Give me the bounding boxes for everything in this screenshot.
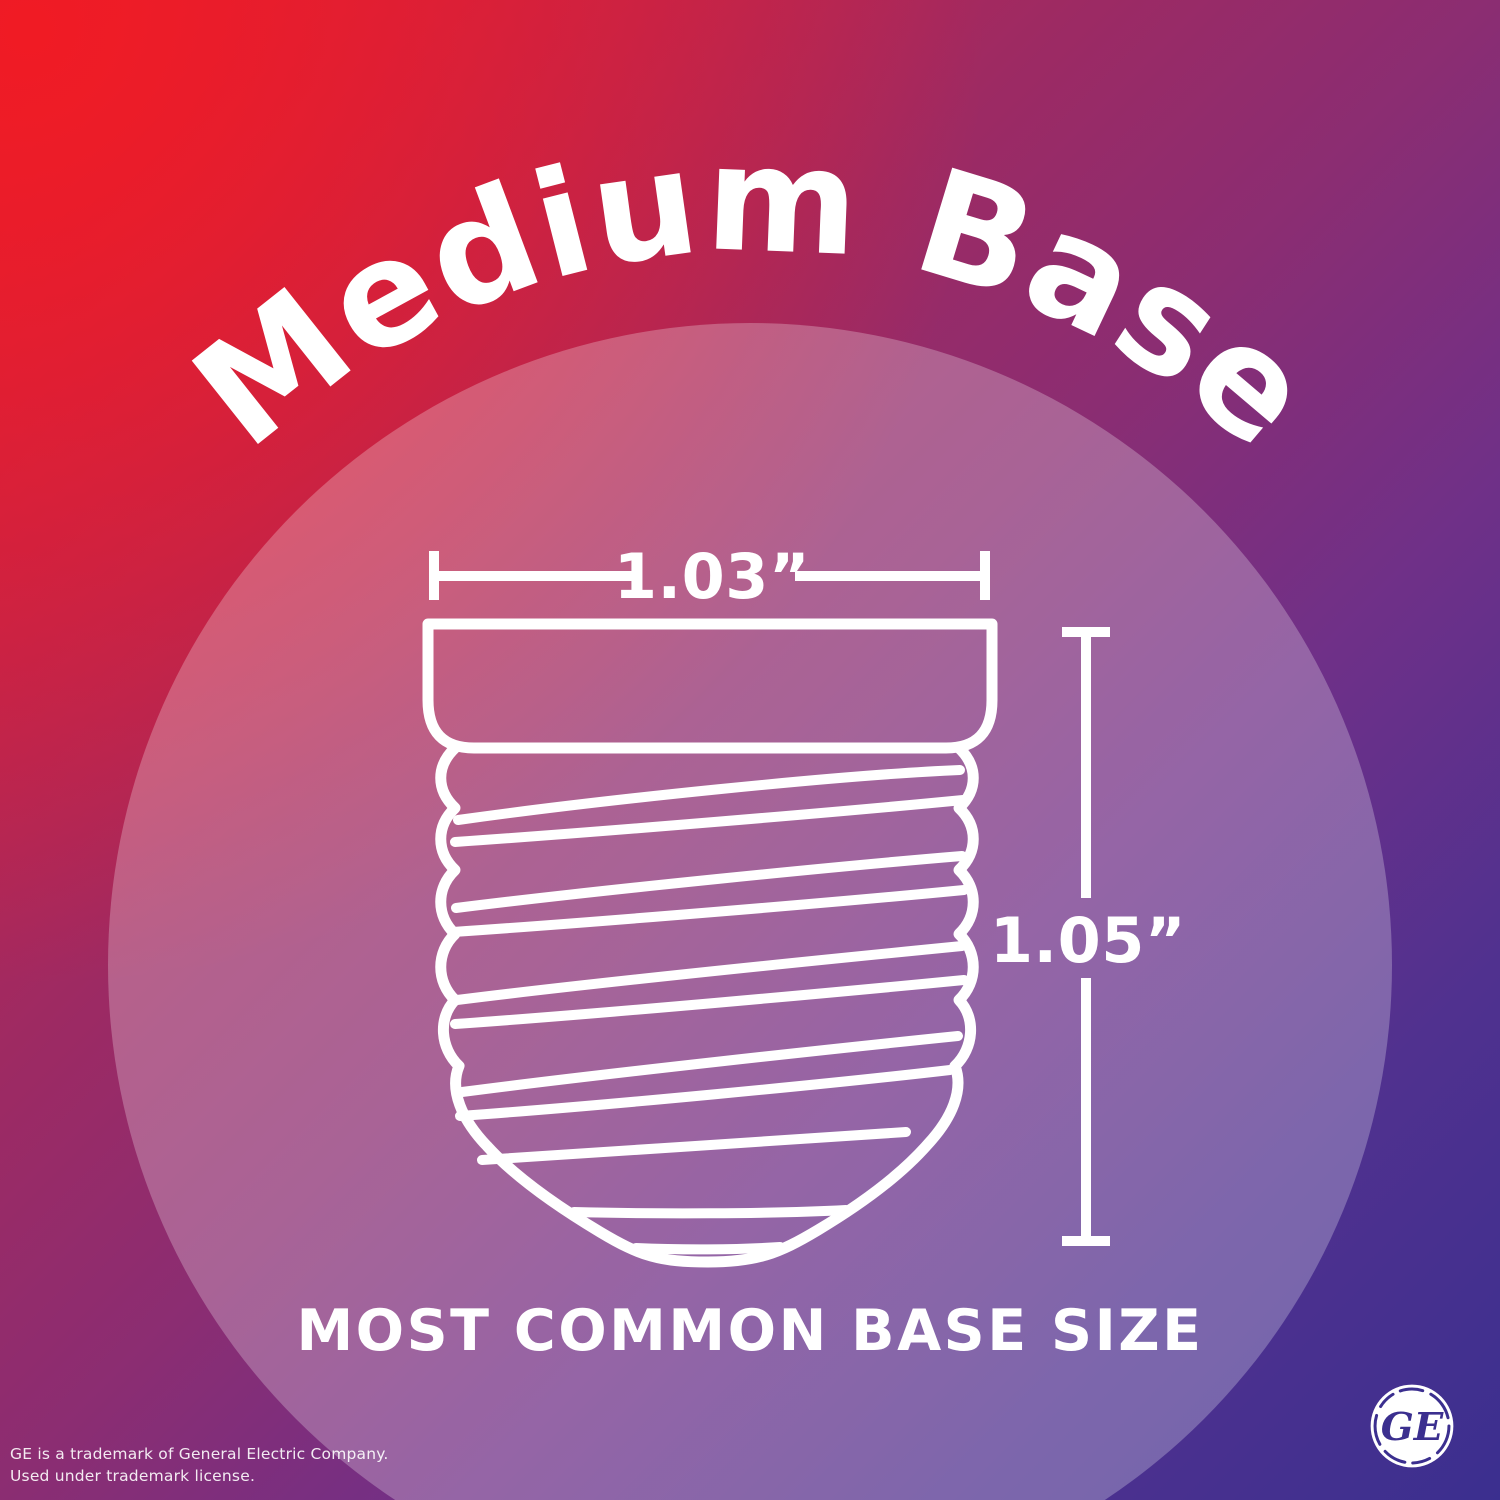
caption-text: MOST COMMON BASE SIZE (296, 1298, 1203, 1364)
base-collar (428, 624, 992, 748)
thread-line-1 (458, 770, 960, 820)
thread-line-9 (482, 1132, 906, 1160)
poster-canvas: Medium Base 1.03” 1.05” (0, 0, 1500, 1500)
bulb-base-diagram: 1.03” 1.05” (0, 0, 1500, 1500)
thread-line-7 (462, 1036, 958, 1092)
tip-line-1 (574, 1210, 846, 1213)
width-dim-label: 1.03” (614, 540, 810, 613)
height-dimension: 1.05” (990, 632, 1186, 1241)
ge-logo-monogram: GE (1381, 1405, 1444, 1450)
thread-line-8 (460, 1070, 950, 1116)
ge-logo[interactable]: GE (1368, 1382, 1456, 1470)
width-dimension: 1.03” (434, 540, 985, 613)
trademark-notice: GE is a trademark of General Electric Co… (10, 1443, 530, 1488)
height-dim-label: 1.05” (990, 904, 1186, 977)
bulb-screw-base-icon (428, 624, 992, 1262)
trademark-line-1: GE is a trademark of General Electric Co… (10, 1443, 530, 1465)
tip-line-2 (636, 1247, 780, 1249)
trademark-line-2: Used under trademark license. (10, 1465, 530, 1487)
